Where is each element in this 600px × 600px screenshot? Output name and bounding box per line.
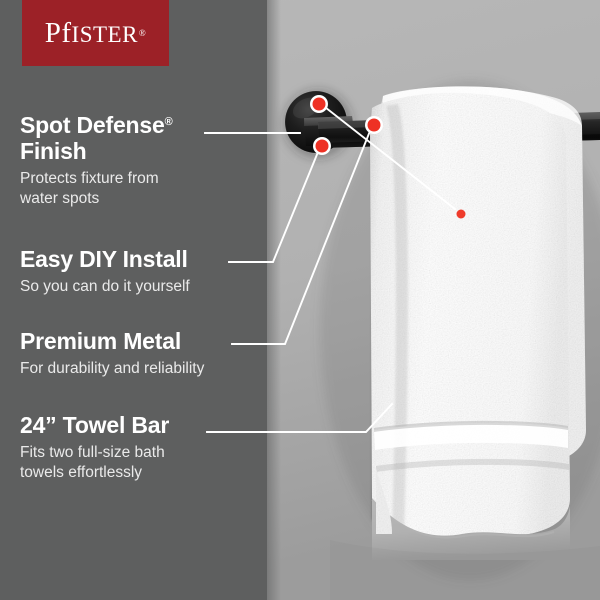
feature-easy-diy-install: Easy DIY Install So you can do it yourse… xyxy=(20,246,260,297)
feature-subtitle: For durability and reliability xyxy=(20,359,260,379)
infographic-canvas: PfISTER® Spot Defense®Finish Protects fi… xyxy=(0,0,600,600)
brand-logo: PfISTER® xyxy=(22,0,169,66)
callout-dot-premium-metal[interactable] xyxy=(368,119,381,132)
feature-subtitle: Protects fixture from water spots xyxy=(20,169,260,209)
brand-logo-text: PfISTER® xyxy=(45,19,147,48)
feature-title: 24” Towel Bar xyxy=(20,412,260,438)
leader-line-spot-defense-tail xyxy=(321,104,455,209)
callout-leader-lines xyxy=(0,0,600,600)
callout-dot-easy-diy-install[interactable] xyxy=(316,140,329,153)
feature-subtitle: So you can do it yourself xyxy=(20,277,260,297)
feature-title: Premium Metal xyxy=(20,328,260,354)
callout-dot-towel-bar-length[interactable] xyxy=(313,98,326,111)
feature-premium-metal: Premium Metal For durability and reliabi… xyxy=(20,328,260,379)
feature-title: Easy DIY Install xyxy=(20,246,260,272)
feature-spot-defense-finish: Spot Defense®Finish Protects fixture fro… xyxy=(20,112,260,209)
callout-dot-spot-defense-finish[interactable] xyxy=(457,210,466,219)
feature-towel-bar-length: 24” Towel Bar Fits two full-size bath to… xyxy=(20,412,260,483)
feature-subtitle: Fits two full-size bath towels effortles… xyxy=(20,443,260,483)
feature-title: Spot Defense®Finish xyxy=(20,112,260,164)
